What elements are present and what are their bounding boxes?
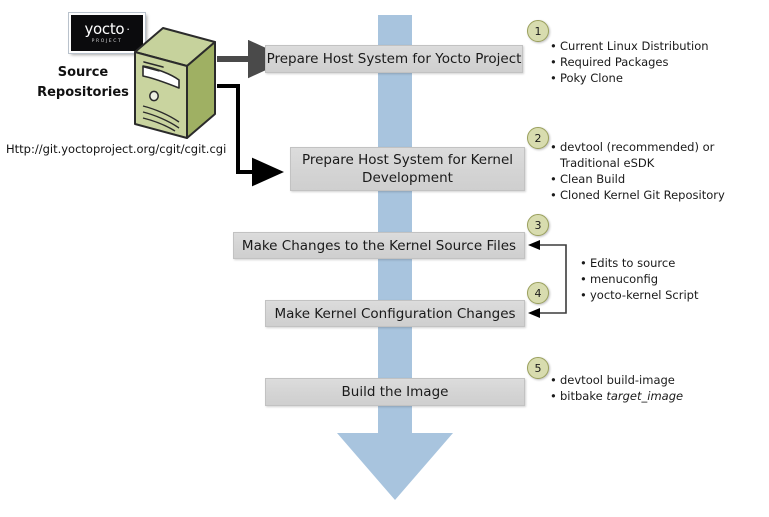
bullet-list-step-2: • devtool (recommended) or Traditional e… [550, 139, 762, 203]
bullet-item: • menuconfig [580, 271, 765, 287]
bullet-text: devtool (recommended) or Traditional eSD… [560, 139, 762, 171]
process-box-step-2[interactable]: Prepare Host System for Kernel Developme… [290, 147, 525, 191]
bullet-text: Required Packages [560, 54, 762, 70]
bullet-marker-icon: • [550, 187, 560, 203]
bullet-text: Clean Build [560, 171, 762, 187]
step-badge-3: 3 [527, 214, 549, 236]
bullet-marker-icon: • [580, 255, 590, 271]
bullet-item: • devtool (recommended) or Traditional e… [550, 139, 762, 171]
step-badge-2: 2 [527, 127, 549, 149]
bullet-text: Current Linux Distribution [560, 38, 762, 54]
bullet-item: • yocto-kernel Script [580, 287, 765, 303]
bullet-item: • Cloned Kernel Git Repository [550, 187, 762, 203]
bullet-marker-icon: • [550, 388, 560, 404]
bullet-text: menuconfig [590, 271, 765, 287]
bullet-marker-icon: • [550, 54, 560, 70]
bullet-marker-icon: • [550, 70, 560, 86]
step-badge-2-number: 2 [535, 132, 542, 145]
step-badge-3-number: 3 [535, 219, 542, 232]
source-label-line1: Source [22, 63, 144, 83]
bullet-marker-icon: • [580, 271, 590, 287]
step-badge-1: 1 [527, 20, 549, 42]
bullet-text: bitbake target_image [560, 388, 762, 404]
step-badge-5-number: 5 [535, 362, 542, 375]
bullet-marker-icon: • [550, 139, 560, 155]
bullet-item: • Poky Clone [550, 70, 762, 86]
step-badge-4-number: 4 [535, 287, 542, 300]
bullet-item: • devtool build-image [550, 372, 762, 388]
process-box-step-5[interactable]: Build the Image [265, 378, 525, 406]
process-box-step-1[interactable]: Prepare Host System for Yocto Project [265, 45, 523, 73]
bullet-text: yocto-kernel Script [590, 287, 765, 303]
process-box-step-2-label: Prepare Host System for Kernel Developme… [291, 151, 524, 187]
bullet-list-step-5: • devtool build-image • bitbake target_i… [550, 372, 762, 404]
bullet-item: • bitbake target_image [550, 388, 762, 404]
process-box-step-3-label: Make Changes to the Kernel Source Files [242, 237, 516, 255]
source-repositories-label: Source Repositories [22, 63, 144, 103]
bullet-item: • Edits to source [580, 255, 765, 271]
logo-wordmark: yocto· [84, 22, 129, 37]
source-label-line2: Repositories [22, 83, 144, 103]
diagram-canvas: yocto· PROJECT Source Repositories Http:… [0, 0, 769, 517]
bullet-text: Poky Clone [560, 70, 762, 86]
bullet-item: • Required Packages [550, 54, 762, 70]
bullet-text-plain: bitbake [560, 389, 606, 403]
bullet-list-step-1: • Current Linux Distribution • Required … [550, 38, 762, 86]
server-tower-icon [133, 26, 217, 140]
step-badge-1-number: 1 [535, 25, 542, 38]
process-box-step-3[interactable]: Make Changes to the Kernel Source Files [233, 232, 525, 259]
step-badge-4: 4 [527, 282, 549, 304]
process-box-step-1-label: Prepare Host System for Yocto Project [267, 50, 522, 68]
bullet-text: devtool build-image [560, 372, 762, 388]
bullet-text-italic: target_image [606, 389, 683, 403]
bullet-item: • Current Linux Distribution [550, 38, 762, 54]
bullet-list-steps-3-4: • Edits to source • menuconfig • yocto-k… [580, 255, 765, 303]
repository-url: Http://git.yoctoproject.org/cgit/cgit.cg… [6, 142, 226, 156]
logo-word-text: yocto [84, 20, 124, 38]
process-box-step-4[interactable]: Make Kernel Configuration Changes [265, 300, 525, 327]
logo-subtext: PROJECT [92, 38, 123, 45]
bullet-text: Cloned Kernel Git Repository [560, 187, 762, 203]
logo-dot: · [124, 23, 129, 36]
bullet-marker-icon: • [580, 287, 590, 303]
process-box-step-5-label: Build the Image [342, 383, 449, 401]
bullet-marker-icon: • [550, 38, 560, 54]
bullet-text: Edits to source [590, 255, 765, 271]
process-box-step-4-label: Make Kernel Configuration Changes [274, 305, 515, 323]
bullet-marker-icon: • [550, 171, 560, 187]
bullet-marker-icon: • [550, 372, 560, 388]
step-badge-5: 5 [527, 357, 549, 379]
bullet-item: • Clean Build [550, 171, 762, 187]
